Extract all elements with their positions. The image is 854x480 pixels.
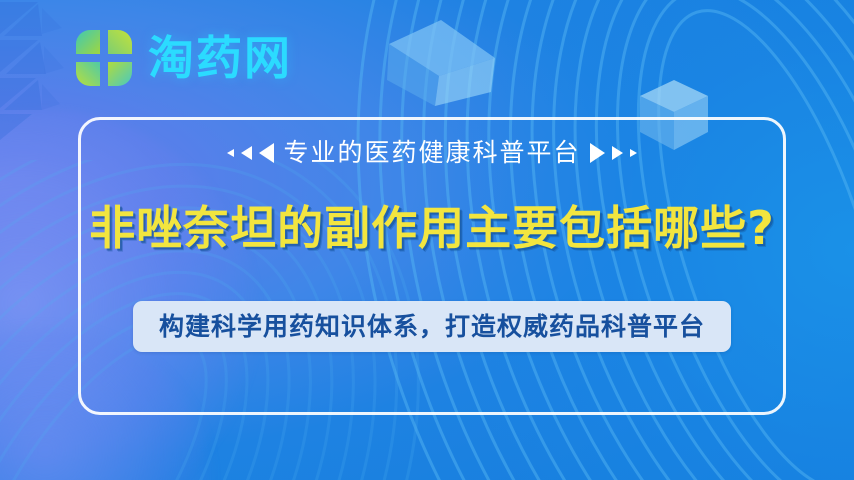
brand-logo[interactable]: 淘药网 — [72, 26, 292, 90]
triangle-right-small-icon — [630, 149, 637, 157]
right-arrow-group — [590, 143, 637, 163]
triangle-right-medium-icon — [612, 146, 623, 160]
triangle-left-small-icon — [227, 149, 234, 157]
brand-name: 淘药网 — [148, 35, 292, 81]
subtitle-row: 专业的医药健康科普平台 — [227, 140, 636, 165]
poster-canvas: 淘药网 专业的医药健康科普平台 非唑奈坦的副作用主要包括哪些? 构建科学用药知识… — [0, 0, 854, 480]
tagline-badge: 构建科学用药知识体系，打造权威药品科普平台 — [133, 301, 731, 352]
left-arrow-group — [227, 143, 274, 163]
page-title: 非唑奈坦的副作用主要包括哪些? — [89, 203, 775, 254]
triangle-right-large-icon — [590, 143, 605, 163]
triangle-left-medium-icon — [241, 146, 252, 160]
medical-cross-icon — [72, 26, 136, 90]
banner-content: 专业的医药健康科普平台 非唑奈坦的副作用主要包括哪些? 构建科学用药知识体系，打… — [78, 117, 786, 415]
triangle-left-large-icon — [259, 143, 274, 163]
banner-subtitle: 专业的医药健康科普平台 — [283, 140, 580, 165]
